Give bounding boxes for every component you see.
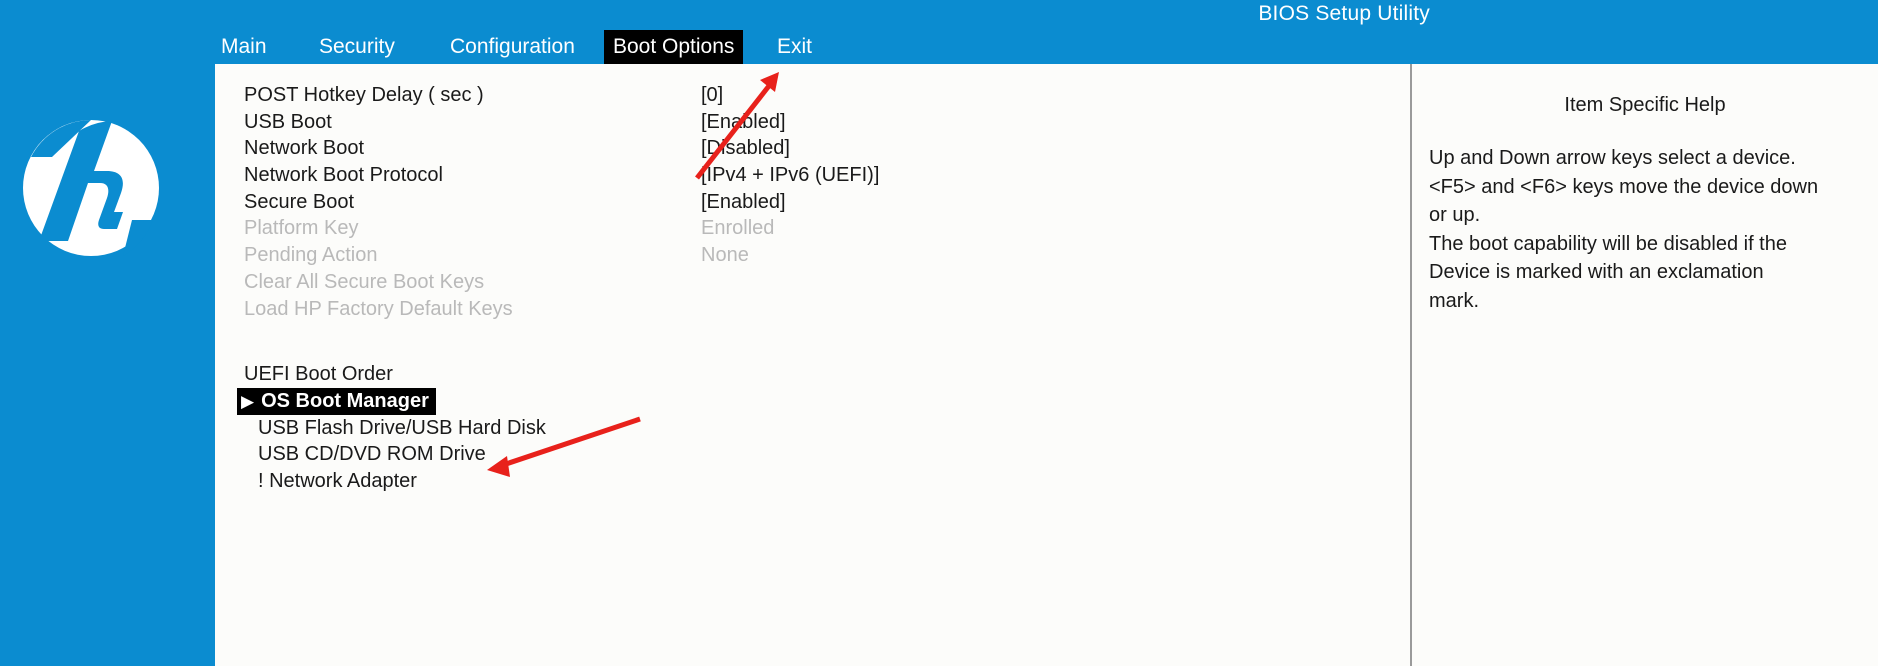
setting-label: Pending Action	[244, 242, 377, 269]
page-title: BIOS Setup Utility	[0, 2, 1430, 26]
setting-value[interactable]: [Disabled]	[701, 135, 790, 162]
title-bar: BIOS Setup Utility	[0, 0, 1878, 30]
setting-value[interactable]: [Enabled]	[701, 109, 786, 136]
help-body: Up and Down arrow keys select a device. …	[1429, 144, 1877, 315]
setting-row-load-hp-factory-default-keys: Load HP Factory Default Keys	[215, 296, 1410, 323]
setting-value[interactable]: [Enabled]	[701, 189, 786, 216]
setting-row-network-boot-protocol[interactable]: Network Boot Protocol [IPv4 + IPv6 (UEFI…	[215, 162, 1410, 189]
settings-list: POST Hotkey Delay ( sec ) [0] USB Boot […	[215, 82, 1410, 322]
help-line: Up and Down arrow keys select a device.	[1429, 144, 1877, 173]
setting-row-clear-all-secure-boot-keys: Clear All Secure Boot Keys	[215, 269, 1410, 296]
tab-configuration[interactable]: Configuration	[441, 30, 584, 64]
brand-sidebar	[0, 64, 215, 666]
boot-device-label: OS Boot Manager	[261, 388, 429, 415]
help-title: Item Specific Help	[1412, 94, 1878, 117]
boot-device-usb-cd-dvd-rom-drive[interactable]: USB CD/DVD ROM Drive	[215, 441, 1410, 468]
setting-row-network-boot[interactable]: Network Boot [Disabled]	[215, 135, 1410, 162]
setting-label: Network Boot Protocol	[244, 162, 443, 189]
boot-device-network-adapter[interactable]: ! Network Adapter	[215, 468, 1410, 495]
tab-security[interactable]: Security	[310, 30, 404, 64]
boot-device-label: USB CD/DVD ROM Drive	[258, 441, 486, 468]
setting-row-usb-boot[interactable]: USB Boot [Enabled]	[215, 109, 1410, 136]
bios-setup-screen: BIOS Setup Utility Main Security Configu…	[0, 0, 1878, 666]
selection-highlight[interactable]: ▶ OS Boot Manager	[237, 388, 436, 415]
help-line: <F5> and <F6> keys move the device down	[1429, 173, 1877, 202]
setting-row-platform-key: Platform Key Enrolled	[215, 215, 1410, 242]
menu-bar: Main Security Configuration Boot Options…	[0, 30, 1878, 64]
setting-label: Load HP Factory Default Keys	[244, 296, 513, 323]
setting-label: Clear All Secure Boot Keys	[244, 269, 484, 296]
setting-label: Network Boot	[244, 135, 364, 162]
setting-label: Platform Key	[244, 215, 358, 242]
boot-device-os-boot-manager[interactable]: ▶ OS Boot Manager	[215, 388, 1410, 415]
item-specific-help-pane: Item Specific Help Up and Down arrow key…	[1412, 64, 1878, 666]
setting-value[interactable]: [0]	[701, 82, 723, 109]
triangle-right-icon: ▶	[241, 388, 254, 415]
setting-label: POST Hotkey Delay ( sec )	[244, 82, 484, 109]
help-line: or up.	[1429, 201, 1877, 230]
boot-device-label: USB Flash Drive/USB Hard Disk	[258, 415, 546, 442]
main-content: POST Hotkey Delay ( sec ) [0] USB Boot […	[215, 64, 1878, 666]
help-line: The boot capability will be disabled if …	[1429, 230, 1877, 259]
setting-label: USB Boot	[244, 109, 332, 136]
setting-value[interactable]: [IPv4 + IPv6 (UEFI)]	[701, 162, 879, 189]
hp-logo	[22, 119, 160, 257]
settings-pane: POST Hotkey Delay ( sec ) [0] USB Boot […	[215, 64, 1410, 666]
help-line: mark.	[1429, 287, 1877, 316]
boot-device-usb-flash-drive[interactable]: USB Flash Drive/USB Hard Disk	[215, 415, 1410, 442]
boot-device-label: ! Network Adapter	[258, 468, 417, 495]
setting-value: None	[701, 242, 749, 269]
boot-order-heading-label: UEFI Boot Order	[244, 361, 393, 388]
tab-boot-options[interactable]: Boot Options	[604, 30, 743, 64]
setting-value: Enrolled	[701, 215, 774, 242]
setting-row-post-hotkey-delay[interactable]: POST Hotkey Delay ( sec ) [0]	[215, 82, 1410, 109]
boot-order-heading: UEFI Boot Order	[215, 361, 1410, 388]
boot-order-list: UEFI Boot Order ▶ OS Boot Manager USB Fl…	[215, 361, 1410, 495]
setting-label: Secure Boot	[244, 189, 354, 216]
setting-row-secure-boot[interactable]: Secure Boot [Enabled]	[215, 189, 1410, 216]
tab-exit[interactable]: Exit	[768, 30, 821, 64]
tab-main[interactable]: Main	[212, 30, 276, 64]
help-line: Device is marked with an exclamation	[1429, 258, 1877, 287]
setting-row-pending-action: Pending Action None	[215, 242, 1410, 269]
